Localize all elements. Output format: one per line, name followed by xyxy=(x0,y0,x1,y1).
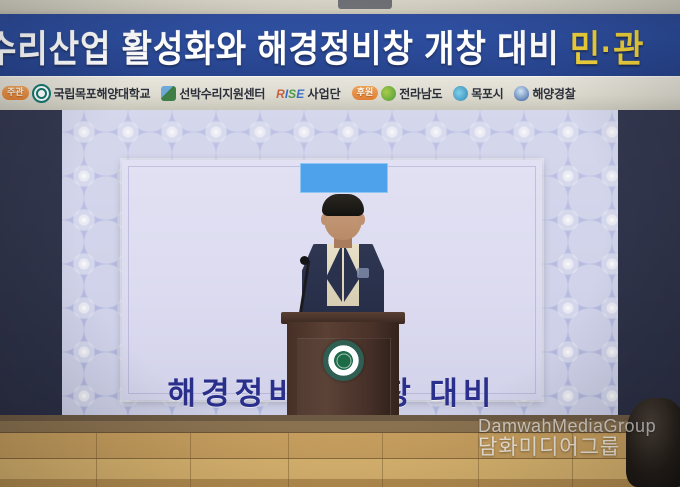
sponsor-label-coast-guard: 해양경찰 xyxy=(532,85,575,102)
sponsor-item-jeonnam: 후원 전라남도 xyxy=(352,85,443,102)
ship-icon xyxy=(161,86,176,101)
sponsor-item-repair-center: 선박수리지원센터 xyxy=(161,85,265,102)
floor-plank-line xyxy=(382,432,383,487)
sponsor-label-jeonnam: 전라남도 xyxy=(399,85,442,102)
sponsor-label-rise: RISE 사업단 xyxy=(276,85,341,102)
floor-plank-line xyxy=(96,432,97,487)
floor-plank-line xyxy=(572,432,573,487)
sponsor-label-university: 국립목포해양대학교 xyxy=(54,85,151,102)
leaf-icon xyxy=(381,86,396,101)
slide-highlight-box xyxy=(300,163,388,193)
sponsor-item-rise: RISE 사업단 xyxy=(276,85,341,102)
sponsor-item-university: 주관 국립목포해양대학교 xyxy=(2,84,150,103)
sponsor-item-coast-guard: 해양경찰 xyxy=(514,85,575,102)
sponsor-label-mokpo: 목포시 xyxy=(471,85,503,102)
floor-seam-lower xyxy=(0,458,680,459)
banner-main-text: 수리산업 활성화와 해경정비창 개창 대비 xyxy=(0,19,560,73)
speaker-lapel-badge xyxy=(357,268,369,278)
floor-plank-line xyxy=(190,432,191,487)
audience-member-silhouette xyxy=(626,398,680,487)
video-frame: 수리산업 활성화와 해경정비창 개창 대비 민·관 주관 국립목포해양대학교 선… xyxy=(0,0,680,487)
shield-icon xyxy=(514,86,529,101)
support-badge: 후원 xyxy=(352,86,379,100)
banner-accent-text: 민·관 xyxy=(570,19,645,73)
sponsor-label-repair-center: 선박수리지원센터 xyxy=(179,85,265,102)
microphone-head-icon xyxy=(300,256,309,265)
wall-left-column xyxy=(0,110,62,415)
sponsor-logo-strip: 주관 국립목포해양대학교 선박수리지원센터 RISE 사업단 후원 전라남도 목… xyxy=(0,76,680,110)
seal-center xyxy=(336,353,351,368)
wall-right-column xyxy=(618,110,680,415)
ring-seal-icon xyxy=(32,84,51,103)
host-badge: 주관 xyxy=(2,86,29,100)
speaker-hair xyxy=(322,194,364,216)
floor-plank-line xyxy=(288,432,289,487)
event-banner: 수리산업 활성화와 해경정비창 개창 대비 민·관 xyxy=(0,14,680,76)
floor-seam-upper xyxy=(0,432,680,433)
bird-icon xyxy=(453,86,468,101)
ceiling-fixture-icon xyxy=(338,0,392,9)
floor-plank-line xyxy=(478,432,479,487)
stage-floor xyxy=(0,415,680,487)
university-seal-icon xyxy=(323,340,364,381)
sponsor-item-mokpo: 목포시 xyxy=(453,85,503,102)
